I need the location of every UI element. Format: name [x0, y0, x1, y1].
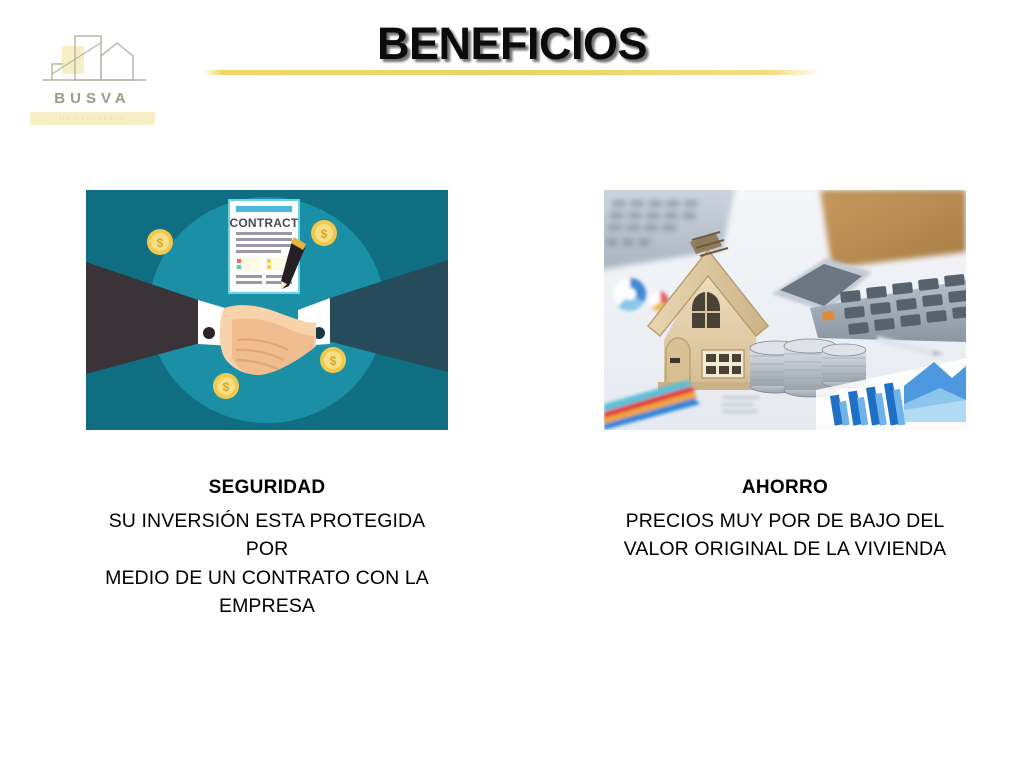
logo-tagline: Homebrokers: [30, 112, 155, 125]
caption-body: PRECIOS MUY POR DE BAJO DEL VALOR ORIGIN…: [604, 507, 966, 564]
coin-icon: $: [311, 220, 337, 246]
benefit-column-seguridad: CONTRACT: [86, 190, 448, 430]
model-house-coins-photo: [604, 190, 966, 430]
desk-scene: [604, 190, 966, 430]
svg-text:$: $: [157, 236, 164, 250]
page-title: BENEFICIOS: [0, 18, 1024, 70]
svg-text:CONTRACT: CONTRACT: [230, 216, 299, 230]
caption-ahorro: AHORRO PRECIOS MUY POR DE BAJO DEL VALOR…: [604, 478, 966, 564]
handshake-scene: CONTRACT: [86, 190, 448, 430]
coin-icon: $: [213, 373, 239, 399]
handshake-contract-illustration: CONTRACT: [86, 190, 448, 430]
coin-icon: $: [147, 229, 173, 255]
logo-wordmark: BUSVA: [30, 90, 155, 107]
caption-heading: SEGURIDAD: [86, 478, 448, 497]
coin-icon: $: [320, 347, 346, 373]
title-underline-rule: [203, 70, 821, 75]
svg-text:$: $: [321, 227, 328, 241]
svg-text:$: $: [223, 380, 230, 394]
caption-heading: AHORRO: [604, 478, 966, 497]
caption-body: SU INVERSIÓN ESTA PROTEGIDA POR MEDIO DE…: [86, 507, 448, 620]
svg-text:$: $: [330, 354, 337, 368]
caption-seguridad: SEGURIDAD SU INVERSIÓN ESTA PROTEGIDA PO…: [86, 478, 448, 620]
